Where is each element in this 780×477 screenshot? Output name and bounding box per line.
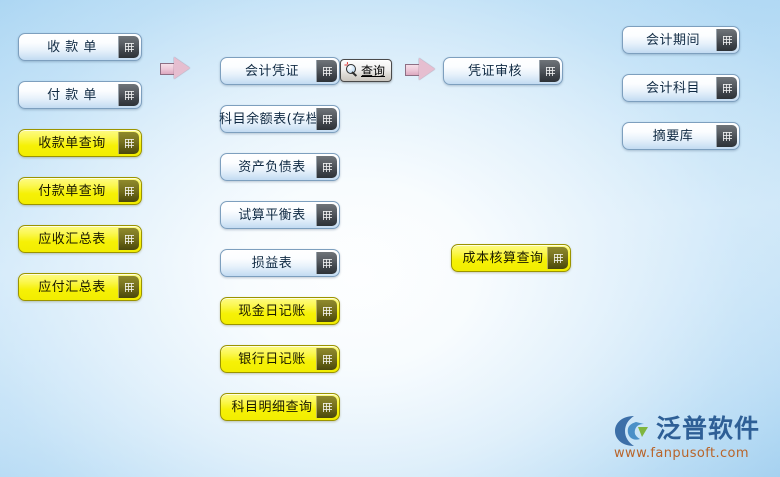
button-voucher-audit[interactable]: 凭证审核 [443, 57, 563, 85]
button-label: 成本核算查询 [462, 252, 543, 265]
grip-icon [316, 252, 337, 274]
logo-brand-text: 泛普软件 [656, 413, 760, 445]
button-account-detail-query[interactable]: 科目明细查询 [220, 393, 340, 421]
button-label: 收 款 单 [47, 41, 97, 54]
grip-icon [118, 132, 139, 154]
grip-icon [539, 60, 560, 82]
grip-icon [716, 77, 737, 99]
arrow-head [174, 57, 190, 79]
button-summary-library[interactable]: 摘要库 [622, 122, 740, 150]
button-label: 摘要库 [653, 130, 694, 143]
arrow-middle-to-right [405, 58, 435, 80]
button-label: 凭证审核 [468, 65, 522, 78]
button-label: 会计期间 [646, 34, 700, 47]
button-account-balance-archive[interactable]: 科目余额表(存档) [220, 105, 340, 133]
button-label: 科目余额表(存档) [219, 113, 325, 126]
grip-icon [716, 29, 737, 51]
button-trial-balance[interactable]: 试算平衡表 [220, 201, 340, 229]
button-accounting-period[interactable]: 会计期间 [622, 26, 740, 54]
grip-icon [316, 156, 337, 178]
button-label: 科目明细查询 [231, 401, 312, 414]
button-label: 会计科目 [646, 82, 700, 95]
button-payment-query[interactable]: 付款单查询 [18, 177, 142, 205]
grip-icon [118, 228, 139, 250]
grip-icon [547, 247, 568, 269]
fanpu-logo-icon [614, 415, 652, 447]
query-button[interactable]: ✛ 查询 [340, 59, 392, 82]
button-cost-accounting-query[interactable]: 成本核算查询 [451, 244, 571, 272]
query-button-label: 查询 [361, 65, 385, 77]
button-cash-journal[interactable]: 现金日记账 [220, 297, 340, 325]
button-label: 试算平衡表 [238, 209, 306, 222]
arrow-left-to-middle [160, 57, 190, 79]
logo-url-text: www.fanpusoft.com [614, 446, 749, 461]
button-label: 收款单查询 [38, 137, 106, 150]
button-label: 银行日记账 [238, 353, 306, 366]
button-label: 付款单查询 [38, 185, 106, 198]
button-receipt-query[interactable]: 收款单查询 [18, 129, 142, 157]
button-receivable-summary[interactable]: 应收汇总表 [18, 225, 142, 253]
magnifier-icon: ✛ [345, 64, 358, 77]
button-label: 现金日记账 [238, 305, 306, 318]
button-label: 会计凭证 [245, 65, 299, 78]
grip-icon [716, 125, 737, 147]
grip-icon [118, 36, 139, 58]
grip-icon [316, 348, 337, 370]
grip-icon [316, 204, 337, 226]
flowchart-canvas: 收 款 单 付 款 单 收款单查询 付款单查询 应收汇总表 应付汇总表 [0, 0, 780, 477]
button-label: 付 款 单 [47, 89, 97, 102]
button-income-statement[interactable]: 损益表 [220, 249, 340, 277]
button-bank-journal[interactable]: 银行日记账 [220, 345, 340, 373]
button-payment-voucher[interactable]: 付 款 单 [18, 81, 142, 109]
grip-icon [118, 180, 139, 202]
button-label: 应付汇总表 [38, 281, 106, 294]
grip-icon [118, 276, 139, 298]
grip-icon [316, 396, 337, 418]
company-logo: 泛普软件 www.fanpusoft.com [614, 413, 764, 465]
button-label: 损益表 [252, 257, 293, 270]
button-label: 资产负债表 [238, 161, 306, 174]
grip-icon [118, 84, 139, 106]
button-accounting-voucher[interactable]: 会计凭证 [220, 57, 340, 85]
button-receipt-voucher[interactable]: 收 款 单 [18, 33, 142, 61]
button-accounting-subject[interactable]: 会计科目 [622, 74, 740, 102]
button-payable-summary[interactable]: 应付汇总表 [18, 273, 142, 301]
button-label: 应收汇总表 [38, 233, 106, 246]
grip-icon [316, 60, 337, 82]
arrow-head [419, 58, 435, 80]
grip-icon [316, 300, 337, 322]
grip-icon [316, 108, 337, 130]
button-balance-sheet[interactable]: 资产负债表 [220, 153, 340, 181]
